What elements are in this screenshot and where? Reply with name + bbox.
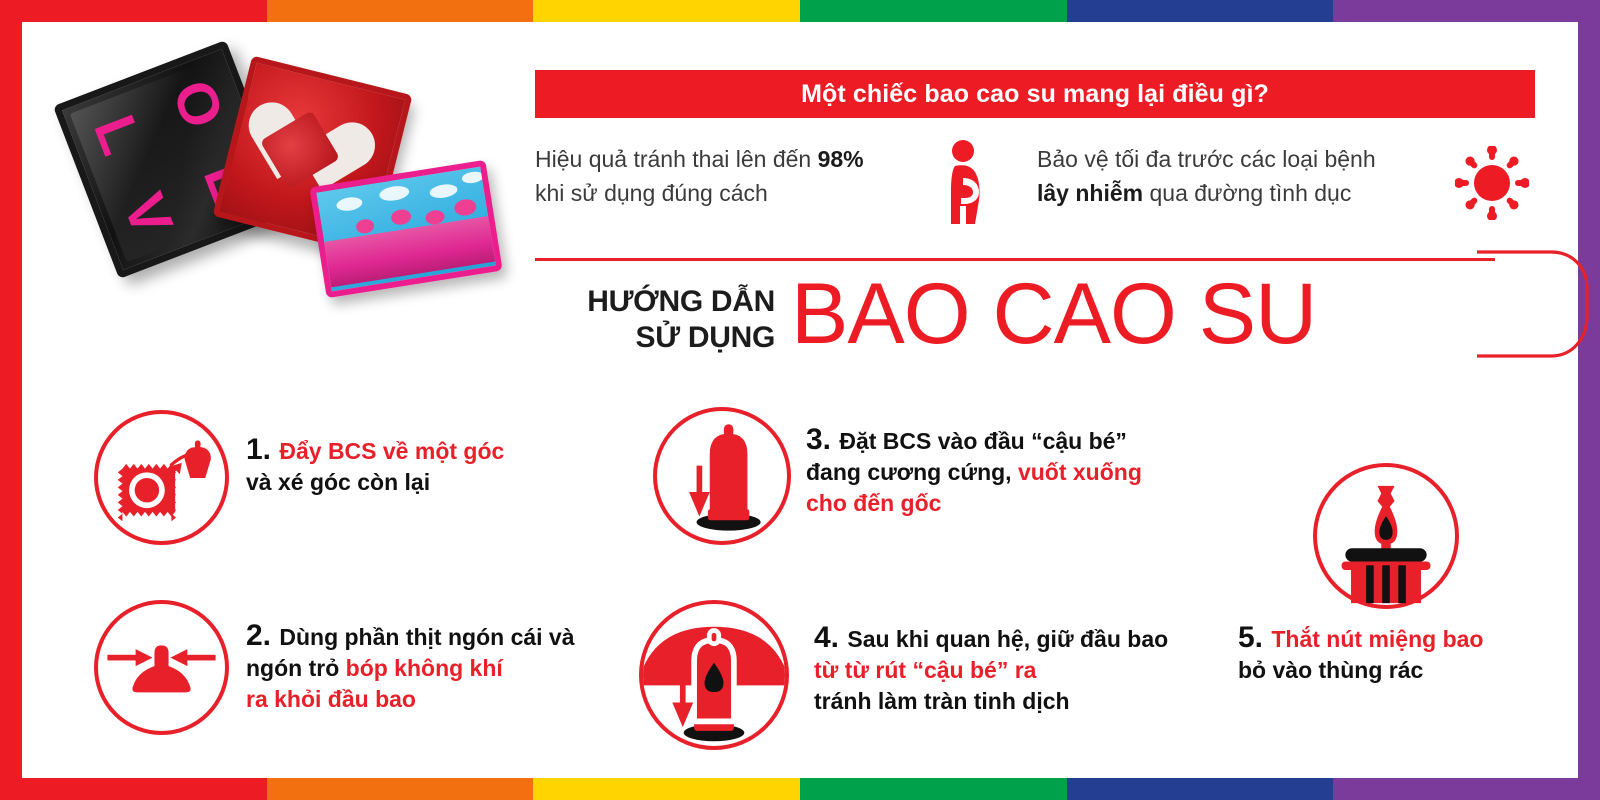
step-1-number: 1.	[246, 433, 279, 466]
step-4-number: 4.	[814, 621, 847, 654]
benefit-pregnancy-stat: 98%	[818, 146, 864, 172]
rainbow-border-right	[1578, 0, 1600, 800]
step-5-body: bỏ vào thùng rác	[1238, 657, 1423, 683]
knot-and-trash-icon	[1317, 467, 1455, 605]
step-4-text: 4. Sau khi quan hệ, giữ đầu baotừ từ rút…	[814, 622, 1214, 717]
rainbow-band-0	[0, 778, 267, 800]
step-3-body: Đặt BCS vào đầu “cậu bé”	[839, 428, 1127, 454]
step-2-number: 2.	[246, 619, 279, 652]
benefit-sti-line2: lây nhiễm qua đường tình dục	[1037, 176, 1457, 210]
step-2-body: Dùng phần thịt ngón cái và	[279, 624, 574, 650]
step-2-text: 2. Dùng phần thịt ngón cái vàngón trỏ bó…	[246, 620, 626, 715]
step-4-body: Sau khi quan hệ, giữ đầu bao	[847, 626, 1168, 652]
step-3-line-2: đang cương cứng, vuốt xuống	[806, 457, 1176, 488]
benefit-pregnancy-line2: khi sử dụng đúng cách	[535, 176, 935, 210]
step-5-line-1: 5. Thắt nút miệng bao	[1238, 622, 1558, 655]
pregnant-woman-icon	[939, 140, 987, 224]
step-4-line-3: tránh làm tràn tinh dịch	[814, 686, 1214, 717]
header-banner: Một chiếc bao cao su mang lại điều gì?	[535, 70, 1535, 118]
squeeze-tip-arrows-icon	[98, 604, 225, 731]
benefits-row: Hiệu quả tránh thai lên đến 98% khi sử d…	[535, 140, 1545, 228]
title-small-line2: SỬ DỤNG	[535, 320, 775, 356]
step-3-number: 3.	[806, 423, 839, 456]
benefit-sti-bold: lây nhiễm	[1037, 180, 1143, 206]
rainbow-band-4	[1067, 778, 1334, 800]
step-1-body: và xé góc còn lại	[246, 469, 430, 495]
condom-outline-icon	[1477, 248, 1595, 366]
step-3-highlight: cho đến gốc	[806, 490, 941, 516]
step-5-number: 5.	[1238, 621, 1271, 654]
step-3-body: đang cương cứng,	[806, 459, 1018, 485]
step-3-line-1: 3. Đặt BCS vào đầu “cậu bé”	[806, 424, 1176, 457]
main-title: HƯỚNG DẪN SỬ DỤNG BAO CAO SU	[535, 274, 1545, 384]
step-5-text: 5. Thắt nút miệng baobỏ vào thùng rác	[1238, 622, 1558, 686]
rainbow-band-1	[267, 0, 534, 22]
step-3-highlight: vuốt xuống	[1018, 459, 1142, 485]
benefit-sti-rest: qua đường tình dục	[1143, 180, 1351, 206]
title-big: BAO CAO SU	[791, 266, 1316, 362]
step-4-icon-circle	[639, 600, 789, 750]
step-1-highlight: Đẩy BCS về một góc	[279, 438, 504, 464]
step-5-icon-circle	[1313, 463, 1459, 609]
step-2-line-1: 2. Dùng phần thịt ngón cái và	[246, 620, 626, 653]
benefit-sti: Bảo vệ tối đa trước các loại bệnh lây nh…	[1037, 142, 1457, 210]
benefit-sti-line1: Bảo vệ tối đa trước các loại bệnh	[1037, 142, 1457, 176]
rainbow-border-left	[0, 0, 22, 800]
poster-canvas: LOVE Một chiếc bao cao su mang lạ	[22, 22, 1578, 778]
pink-band	[324, 216, 495, 287]
step-2-line-2: ngón trỏ bóp không khí	[246, 653, 626, 684]
step-4-highlight: từ từ rút “cậu bé” ra	[814, 657, 1036, 683]
step-1-text: 1. Đẩy BCS về một gócvà xé góc còn lại	[246, 434, 576, 498]
step-2-line-3: ra khỏi đầu bao	[246, 684, 626, 715]
title-small-line1: HƯỚNG DẪN	[535, 284, 775, 320]
rainbow-band-2	[533, 778, 800, 800]
step-2-body: ngón trỏ	[246, 655, 346, 681]
infographic-poster: LOVE Một chiếc bao cao su mang lạ	[0, 0, 1600, 800]
step-4-line-1: 4. Sau khi quan hệ, giữ đầu bao	[814, 622, 1214, 655]
benefit-pregnancy-text: Hiệu quả tránh thai lên đến	[535, 146, 818, 172]
rainbow-band-5	[1333, 0, 1600, 22]
benefit-pregnancy-line1: Hiệu quả tránh thai lên đến 98%	[535, 142, 935, 176]
rainbow-border-top	[0, 0, 1600, 22]
rainbow-band-1	[267, 778, 534, 800]
rainbow-band-5	[1333, 778, 1600, 800]
rainbow-band-0	[0, 0, 267, 22]
benefit-pregnancy: Hiệu quả tránh thai lên đến 98% khi sử d…	[535, 142, 935, 210]
condom-packet-tear-corner-icon	[98, 414, 225, 541]
title-rule	[535, 258, 1495, 261]
rainbow-border-bottom	[0, 778, 1600, 800]
step-5-highlight: Thắt nút miệng bao	[1271, 626, 1483, 652]
step-2-highlight: ra khỏi đầu bao	[246, 686, 416, 712]
step-4-line-2: từ từ rút “cậu bé” ra	[814, 655, 1214, 686]
condom-packets-photo: LOVE	[62, 57, 462, 337]
rainbow-band-2	[533, 0, 800, 22]
step-4-body: tránh làm tràn tinh dịch	[814, 688, 1070, 714]
rainbow-band-3	[800, 778, 1067, 800]
title-small: HƯỚNG DẪN SỬ DỤNG	[535, 284, 775, 356]
step-2-highlight: bóp không khí	[346, 655, 503, 681]
step-3-text: 3. Đặt BCS vào đầu “cậu bé”đang cương cứ…	[806, 424, 1176, 519]
step-1-line-2: và xé góc còn lại	[246, 467, 576, 498]
hold-base-withdraw-icon	[643, 604, 785, 746]
virus-icon	[1455, 146, 1529, 220]
roll-down-condom-icon	[657, 411, 787, 541]
rainbow-band-4	[1067, 0, 1334, 22]
rainbow-band-3	[800, 0, 1067, 22]
step-2-icon-circle	[94, 600, 229, 735]
step-5-line-2: bỏ vào thùng rác	[1238, 655, 1558, 686]
step-3-icon-circle	[653, 407, 791, 545]
banner-title: Một chiếc bao cao su mang lại điều gì?	[801, 80, 1269, 109]
step-3-line-3: cho đến gốc	[806, 488, 1176, 519]
step-1-line-1: 1. Đẩy BCS về một góc	[246, 434, 576, 467]
step-1-icon-circle	[94, 410, 229, 545]
